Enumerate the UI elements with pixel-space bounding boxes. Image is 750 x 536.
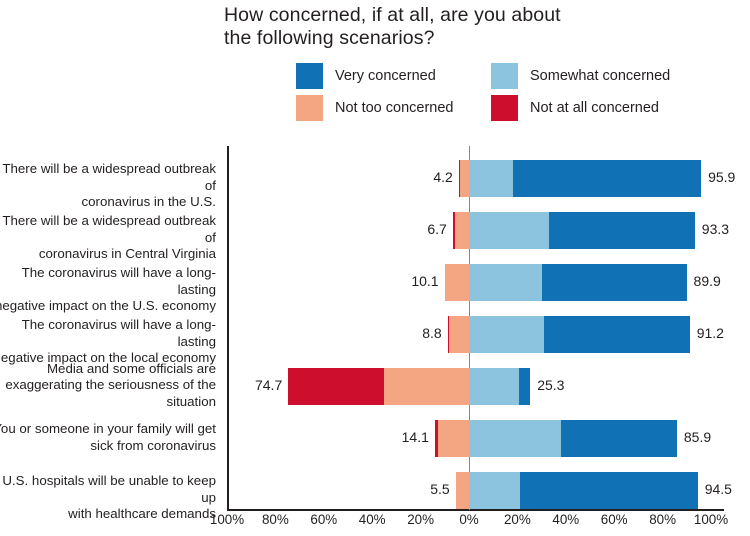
bar-segment-very-concerned[interactable]: [519, 368, 530, 405]
bar-value-label-right: 95.9: [708, 169, 735, 185]
chart-title-line-2: the following scenarios?: [224, 27, 644, 50]
legend-row-2: Not too concerned Not at all concerned: [296, 92, 696, 124]
bar-segment-somewhat-concerned[interactable]: [469, 368, 519, 405]
category-axis-labels: There will be a widespread outbreak ofco…: [0, 146, 222, 510]
bar-row[interactable]: 14.185.9: [227, 420, 724, 457]
x-tick-label-5: 20%: [395, 512, 447, 527]
category-label-2-line-2: coronavirus in Central Virginia: [0, 246, 216, 263]
bar-segment-very-concerned[interactable]: [542, 264, 687, 301]
category-label-2-line-1: There will be a widespread outbreak of: [0, 213, 216, 246]
x-tick-label-3: 60%: [298, 512, 350, 527]
x-tick-label-4: 40%: [346, 512, 398, 527]
category-label-6: You or someone in your family will getsi…: [0, 421, 216, 454]
bar-segment-very-concerned[interactable]: [520, 472, 698, 509]
bar-segment-not-too-concerned[interactable]: [456, 472, 469, 509]
x-tick-label-8: 40%: [540, 512, 592, 527]
legend-label-very-concerned: Very concerned: [335, 68, 436, 84]
bar-row[interactable]: 6.793.3: [227, 212, 724, 249]
bar-segment-not-too-concerned[interactable]: [449, 316, 469, 353]
legend-swatch-somewhat-concerned: [491, 63, 518, 89]
legend-row-1: Very concerned Somewhat concerned: [296, 60, 696, 92]
category-label-5-line-1: Media and some officials are: [0, 361, 216, 378]
bar-segment-somewhat-concerned[interactable]: [469, 420, 561, 457]
bar-value-label-left: 14.1: [402, 429, 429, 445]
category-label-3-line-1: The coronavirus will have a long-lasting: [0, 265, 216, 298]
category-label-2: There will be a widespread outbreak ofco…: [0, 213, 216, 263]
bar-value-label-right: 93.3: [702, 221, 729, 237]
bar-segment-somewhat-concerned[interactable]: [469, 160, 513, 197]
bar-value-label-left: 5.5: [430, 481, 449, 497]
bar-segment-somewhat-concerned[interactable]: [469, 212, 549, 249]
legend-label-somewhat-concerned: Somewhat concerned: [530, 68, 670, 84]
bar-segment-somewhat-concerned[interactable]: [469, 264, 542, 301]
bar-value-label-right: 94.5: [705, 481, 732, 497]
x-tick-label-6: 0%: [443, 512, 495, 527]
bar-segment-very-concerned[interactable]: [549, 212, 695, 249]
x-tick-label-11: 100%: [685, 512, 737, 527]
legend-swatch-very-concerned: [296, 63, 323, 89]
category-label-5: Media and some officials areexaggerating…: [0, 361, 216, 411]
legend-item-not-at-all-concerned: Not at all concerned: [491, 95, 659, 121]
x-tick-label-9: 60%: [588, 512, 640, 527]
category-label-6-line-2: sick from coronavirus: [0, 438, 216, 455]
bar-value-label-right: 25.3: [537, 377, 564, 393]
category-label-3: The coronavirus will have a long-lasting…: [0, 265, 216, 315]
legend-item-very-concerned: Very concerned: [296, 63, 491, 89]
bar-value-label-right: 85.9: [684, 429, 711, 445]
bar-segment-not-too-concerned[interactable]: [384, 368, 469, 405]
bar-segment-not-at-all-concerned[interactable]: [288, 368, 383, 405]
bar-segment-not-too-concerned[interactable]: [438, 420, 469, 457]
legend-swatch-not-too-concerned: [296, 95, 323, 121]
bar-row[interactable]: 10.189.9: [227, 264, 724, 301]
bar-value-label-left: 74.7: [255, 377, 282, 393]
bar-row[interactable]: 5.594.5: [227, 472, 724, 509]
category-label-5-line-2: exaggerating the seriousness of the: [0, 377, 216, 394]
category-label-3-line-2: negative impact on the U.S. economy: [0, 298, 216, 315]
bar-segment-not-too-concerned[interactable]: [445, 264, 469, 301]
x-tick-label-7: 20%: [491, 512, 543, 527]
bar-segment-not-too-concerned[interactable]: [460, 160, 469, 197]
legend-label-not-too-concerned: Not too concerned: [335, 100, 454, 116]
bar-row[interactable]: 74.725.3: [227, 368, 724, 405]
bar-row[interactable]: 8.891.2: [227, 316, 724, 353]
bar-value-label-right: 91.2: [697, 325, 724, 341]
bar-segment-somewhat-concerned[interactable]: [469, 316, 544, 353]
category-label-7: U.S. hospitals will be unable to keep up…: [0, 473, 216, 523]
category-label-5-line-3: situation: [0, 394, 216, 411]
bar-value-label-left: 6.7: [427, 221, 446, 237]
legend-label-not-at-all-concerned: Not at all concerned: [530, 100, 659, 116]
legend-item-not-too-concerned: Not too concerned: [296, 95, 491, 121]
bar-row[interactable]: 4.295.9: [227, 160, 724, 197]
category-label-1: There will be a widespread outbreak ofco…: [0, 161, 216, 211]
chart-legend: Very concerned Somewhat concerned Not to…: [296, 60, 696, 124]
bar-segment-very-concerned[interactable]: [513, 160, 702, 197]
bar-segment-not-too-concerned[interactable]: [455, 212, 469, 249]
bar-segment-somewhat-concerned[interactable]: [469, 472, 520, 509]
chart-title: How concerned, if at all, are you about …: [224, 4, 644, 50]
x-axis-tick-labels: 100%80%60%40%20%0%20%40%60%80%100%: [227, 512, 724, 534]
category-label-1-line-2: coronavirus in the U.S.: [0, 194, 216, 211]
bar-value-label-right: 89.9: [694, 273, 721, 289]
x-tick-label-10: 80%: [637, 512, 689, 527]
legend-item-somewhat-concerned: Somewhat concerned: [491, 63, 670, 89]
chart-title-line-1: How concerned, if at all, are you about: [224, 4, 644, 27]
category-label-4-line-1: The coronavirus will have a long-lasting: [0, 317, 216, 350]
legend-swatch-not-at-all-concerned: [491, 95, 518, 121]
bar-plot-area: 4.295.96.793.310.189.98.891.274.725.314.…: [227, 146, 724, 510]
diverging-stacked-bar-chart: How concerned, if at all, are you about …: [0, 0, 750, 536]
x-tick-label-1: 100%: [201, 512, 253, 527]
category-label-6-line-1: You or someone in your family will get: [0, 421, 216, 438]
x-tick-label-2: 80%: [249, 512, 301, 527]
bar-value-label-left: 8.8: [422, 325, 441, 341]
category-label-4: The coronavirus will have a long-lasting…: [0, 317, 216, 367]
bar-value-label-left: 4.2: [433, 169, 452, 185]
category-label-7-line-1: U.S. hospitals will be unable to keep up: [0, 473, 216, 506]
category-label-1-line-1: There will be a widespread outbreak of: [0, 161, 216, 194]
bar-segment-very-concerned[interactable]: [544, 316, 690, 353]
category-label-7-line-2: with healthcare demands: [0, 506, 216, 523]
bar-segment-very-concerned[interactable]: [561, 420, 677, 457]
bar-value-label-left: 10.1: [411, 273, 438, 289]
